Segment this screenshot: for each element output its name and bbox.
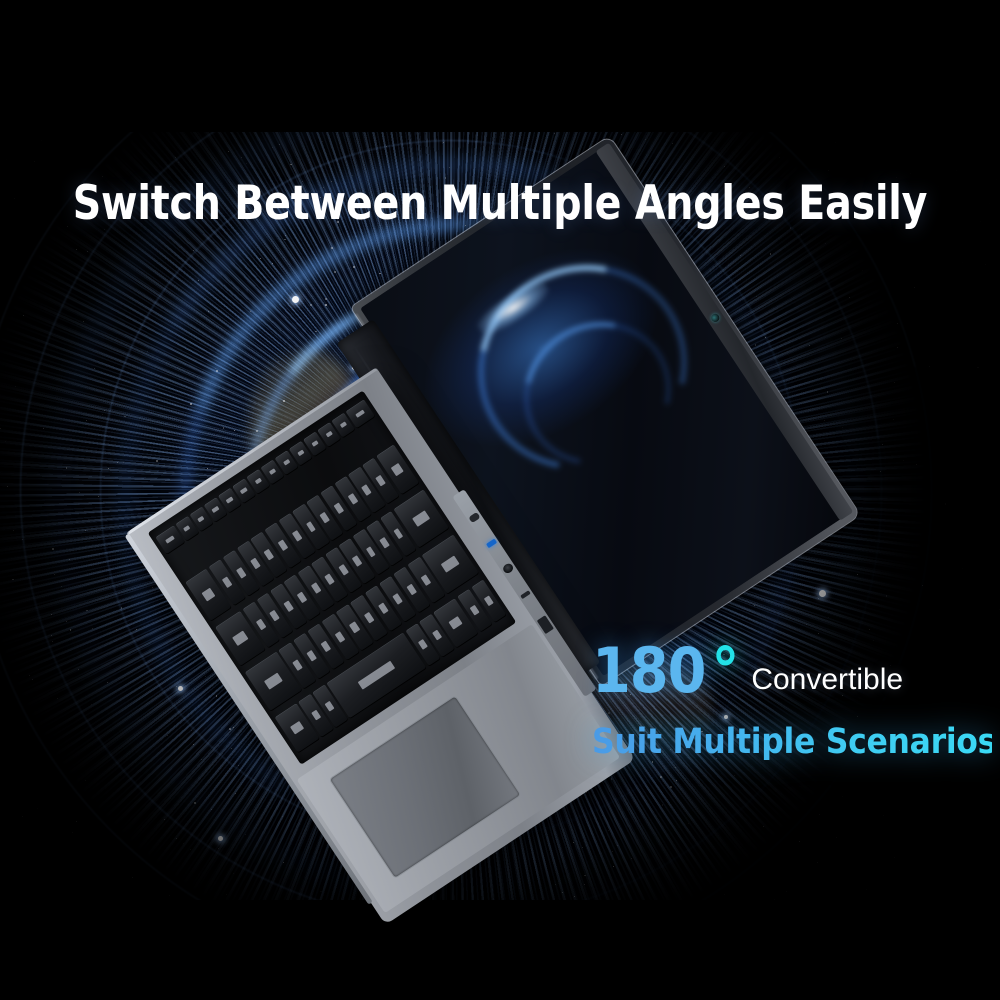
headphone-jack-icon: [501, 562, 514, 575]
usb-c-port-icon: [468, 512, 480, 523]
sd-card-slot-icon: [520, 590, 531, 599]
angle-callout: 180° Convertible Suit Multiple Scenarios: [592, 640, 992, 760]
angle-callout-line-1: 180° Convertible: [592, 640, 992, 702]
scenario-tagline: Suit Multiple Scenarios: [592, 725, 992, 760]
angle-value: 180: [592, 640, 705, 702]
poster-canvas: Switch Between Multiple Angles Easily 18…: [0, 0, 1000, 1000]
degree-symbol-icon: °: [711, 640, 739, 702]
laptop-product-image: [85, 128, 928, 948]
convertible-label: Convertible: [751, 665, 903, 695]
bottom-black-mask: [0, 900, 1000, 1000]
usb-3-port-icon: [486, 539, 497, 549]
top-black-mask: [0, 0, 1000, 132]
page-title: Switch Between Multiple Angles Easily: [33, 176, 968, 231]
